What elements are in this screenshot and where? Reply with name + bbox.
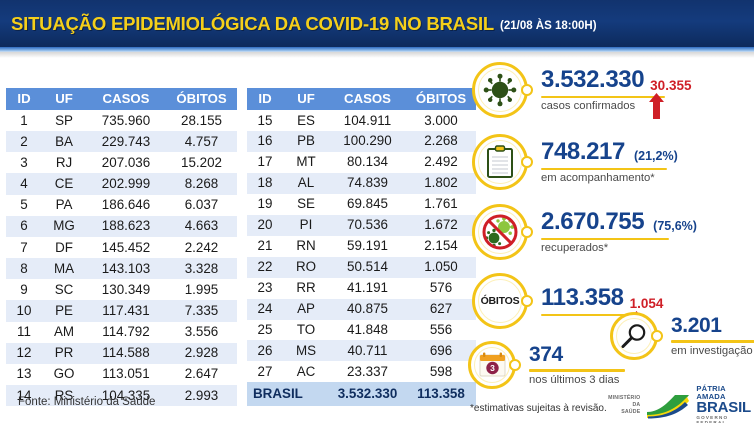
table-total-row: BRASIL3.532.330113.358	[247, 382, 476, 406]
table-row: 4CE202.9998.268	[6, 173, 237, 194]
table-row: 19SE69.8451.761	[247, 194, 476, 215]
state-uf: AP	[283, 299, 329, 320]
table-row: 11AM114.7923.556	[6, 322, 237, 343]
confirmed-cases-value: 3.532.330	[541, 68, 644, 94]
state-uf: PI	[283, 215, 329, 236]
state-id: 4	[6, 173, 42, 194]
state-casos: 23.337	[329, 361, 406, 382]
recovered-value: 2.670.755	[541, 210, 644, 236]
state-obitos: 4.757	[166, 131, 237, 152]
state-casos: 145.452	[86, 237, 166, 258]
state-id: 7	[6, 237, 42, 258]
state-uf: AC	[283, 361, 329, 382]
statistics-panel: 3.532.330 30.355 casos confirmados	[470, 58, 754, 378]
state-id: 18	[247, 173, 283, 194]
state-id: 13	[6, 364, 42, 385]
header-timestamp: (21/08 ÀS 18:00H)	[500, 20, 597, 32]
state-obitos: 2.993	[166, 385, 237, 406]
table-row: 21RN59.1912.154	[247, 236, 476, 257]
state-uf: PR	[42, 343, 86, 364]
ministry-label: MINISTÉRIO DA SAÚDE	[603, 395, 640, 416]
deaths-delta-value: 1.054	[630, 296, 664, 312]
state-obitos: 1.672	[406, 215, 476, 236]
table-row: 16PB100.2902.268	[247, 131, 476, 152]
state-casos: 70.536	[329, 215, 406, 236]
column-header-obitos: ÓBITOS	[166, 88, 237, 110]
monitoring-label: em acompanhamento*	[541, 172, 678, 184]
infographic-page: SITUAÇÃO EPIDEMIOLÓGICA DA COVID-19 NO B…	[0, 0, 754, 423]
stat-rule	[541, 96, 665, 99]
state-casos: 229.743	[86, 131, 166, 152]
page-title: SITUAÇÃO EPIDEMIOLÓGICA DA COVID-19 NO B…	[11, 13, 494, 35]
obitos-text-icon: ÓBITOS	[472, 273, 528, 329]
virus-icon	[472, 62, 528, 118]
table-row: 5PA186.6466.037	[6, 195, 237, 216]
stat-rule	[671, 340, 754, 343]
monitoring-value: 748.217	[541, 140, 625, 166]
state-obitos: 2.268	[406, 131, 476, 152]
state-uf: CE	[42, 173, 86, 194]
table-row: 7DF145.4522.242	[6, 237, 237, 258]
state-obitos: 3.556	[166, 322, 237, 343]
state-casos: 186.646	[86, 195, 166, 216]
stat-investigation-body: 3.201 em investigação	[671, 315, 754, 357]
state-casos: 69.845	[329, 194, 406, 215]
table-row: 18AL74.8391.802	[247, 173, 476, 194]
table-row: 8MA143.1033.328	[6, 258, 237, 279]
table-row: 23RR41.191576	[247, 278, 476, 299]
state-obitos: 556	[406, 320, 476, 341]
state-casos: 41.191	[329, 278, 406, 299]
source-note: Fonte: Ministério da Saúde	[18, 396, 155, 408]
state-uf: RR	[283, 278, 329, 299]
state-casos: 40.711	[329, 340, 406, 361]
stat-last-3-days: 3 374 nos últimos 3 dias	[468, 341, 625, 389]
state-obitos: 1.802	[406, 173, 476, 194]
state-id: 5	[6, 195, 42, 216]
table-row: 24AP40.875627	[247, 299, 476, 320]
table-row: 20PI70.5361.672	[247, 215, 476, 236]
state-id: 21	[247, 236, 283, 257]
investigation-label: em investigação	[671, 345, 754, 357]
state-id: 1	[6, 110, 42, 131]
table-row: 3RJ207.03615.202	[6, 152, 237, 173]
government-wordmark: PÁTRIA AMADA BRASIL GOVERNO FEDERAL	[696, 385, 754, 423]
column-header-obitos: ÓBITOS	[406, 88, 476, 110]
state-obitos: 1.761	[406, 194, 476, 215]
state-casos: 74.839	[329, 173, 406, 194]
state-id: 11	[6, 322, 42, 343]
state-obitos: 696	[406, 340, 476, 361]
state-uf: TO	[283, 320, 329, 341]
state-casos: 188.623	[86, 216, 166, 237]
state-uf: RO	[283, 257, 329, 278]
total-casos: 3.532.330	[329, 382, 406, 406]
recovered-label: recuperados*	[541, 242, 697, 254]
state-casos: 100.290	[329, 131, 406, 152]
state-obitos: 576	[406, 278, 476, 299]
table-row: 1SP735.96028.155	[6, 110, 237, 131]
state-obitos: 3.000	[406, 110, 476, 131]
state-uf: GO	[42, 364, 86, 385]
column-header-uf: UF	[42, 88, 86, 110]
brazil-flag-glyph	[645, 391, 691, 419]
table-row: 13GO113.0512.647	[6, 364, 237, 385]
state-id: 23	[247, 278, 283, 299]
stat-rule	[541, 238, 669, 241]
last-3-days-value: 374	[529, 344, 563, 367]
state-id: 10	[6, 300, 42, 321]
state-obitos: 8.268	[166, 173, 237, 194]
table-row: 12PR114.5882.928	[6, 343, 237, 364]
state-obitos: 7.335	[166, 300, 237, 321]
column-header-uf: UF	[283, 88, 329, 110]
state-uf: PA	[42, 195, 86, 216]
state-obitos: 2.492	[406, 152, 476, 173]
table-body-right: 15ES104.9113.00016PB100.2902.26817MT80.1…	[247, 110, 476, 406]
state-casos: 117.431	[86, 300, 166, 321]
state-casos: 130.349	[86, 279, 166, 300]
table-row: 22RO50.5141.050	[247, 257, 476, 278]
state-uf: PB	[283, 131, 329, 152]
stat-confirmed-body: 3.532.330 30.355 casos confirmados	[541, 68, 691, 113]
investigation-value: 3.201	[671, 315, 722, 338]
state-id: 20	[247, 215, 283, 236]
state-casos: 113.051	[86, 364, 166, 385]
state-casos: 114.792	[86, 322, 166, 343]
state-obitos: 2.928	[166, 343, 237, 364]
state-uf: RN	[283, 236, 329, 257]
no-virus-icon	[472, 204, 528, 260]
state-casos: 207.036	[86, 152, 166, 173]
state-id: 15	[247, 110, 283, 131]
state-id: 27	[247, 361, 283, 382]
state-obitos: 598	[406, 361, 476, 382]
confirmed-cases-delta: 30.355	[649, 78, 691, 94]
states-table-left: ID UF CASOS ÓBITOS 1SP735.96028.1552BA22…	[6, 88, 237, 406]
brazil-flag-icon	[645, 391, 691, 419]
state-id: 25	[247, 320, 283, 341]
state-casos: 114.588	[86, 343, 166, 364]
state-id: 9	[6, 279, 42, 300]
state-obitos: 4.663	[166, 216, 237, 237]
footnote: *estimativas sujeitas à revisão.	[470, 403, 607, 414]
state-uf: SC	[42, 279, 86, 300]
state-uf: BA	[42, 131, 86, 152]
stat-rule	[541, 168, 667, 171]
total-obitos: 113.358	[406, 382, 476, 406]
state-obitos: 6.037	[166, 195, 237, 216]
table-body-left: 1SP735.96028.1552BA229.7434.7573RJ207.03…	[6, 110, 237, 406]
table-header-row: ID UF CASOS ÓBITOS	[6, 88, 237, 110]
state-uf: SE	[283, 194, 329, 215]
state-id: 8	[6, 258, 42, 279]
column-header-casos: CASOS	[86, 88, 166, 110]
stat-monitoring-body: 748.217 (21,2%) em acompanhamento*	[541, 140, 678, 185]
confirmed-cases-delta-value: 30.355	[650, 78, 691, 94]
recovered-percent: (75,6%)	[653, 219, 697, 236]
table-header-row: ID UF CASOS ÓBITOS	[247, 88, 476, 110]
table-row: 27AC23.337598	[247, 361, 476, 382]
government-logo: MINISTÉRIO DA SAÚDE PÁTRIA AMADA BRASIL …	[603, 385, 754, 423]
state-id: 12	[6, 343, 42, 364]
table-row: 15ES104.9113.000	[247, 110, 476, 131]
state-obitos: 2.154	[406, 236, 476, 257]
ministry-label-line1: MINISTÉRIO DA	[603, 395, 640, 409]
calendar-icon: 3	[468, 341, 516, 389]
confirmed-cases-label: casos confirmados	[541, 100, 691, 112]
state-casos: 59.191	[329, 236, 406, 257]
state-uf: PE	[42, 300, 86, 321]
ministry-label-line2: SAÚDE	[603, 409, 640, 416]
last-3-days-label: nos últimos 3 dias	[529, 374, 625, 386]
state-uf: AL	[283, 173, 329, 194]
monitoring-percent: (21,2%)	[634, 149, 678, 166]
patria-amada-label: PÁTRIA AMADA	[696, 385, 754, 400]
state-uf: RJ	[42, 152, 86, 173]
state-id: 6	[6, 216, 42, 237]
table-row: 17MT80.1342.492	[247, 152, 476, 173]
column-header-id: ID	[247, 88, 283, 110]
table-row: 25TO41.848556	[247, 320, 476, 341]
state-uf: DF	[42, 237, 86, 258]
stat-monitoring: 748.217 (21,2%) em acompanhamento*	[472, 134, 678, 190]
table-row: 26MS40.711696	[247, 340, 476, 361]
table-row: 10PE117.4317.335	[6, 300, 237, 321]
state-uf: MS	[283, 340, 329, 361]
table-row: 2BA229.7434.757	[6, 131, 237, 152]
state-id: 26	[247, 340, 283, 361]
deaths-delta: 1.054	[629, 296, 664, 312]
state-obitos: 1.050	[406, 257, 476, 278]
state-casos: 202.999	[86, 173, 166, 194]
stat-investigation: 3.201 em investigação	[610, 312, 754, 360]
state-obitos: 28.155	[166, 110, 237, 131]
state-id: 17	[247, 152, 283, 173]
column-header-casos: CASOS	[329, 88, 406, 110]
state-casos: 735.960	[86, 110, 166, 131]
state-obitos: 3.328	[166, 258, 237, 279]
state-uf: ES	[283, 110, 329, 131]
stat-rule	[529, 369, 625, 372]
brasil-label: BRASIL	[696, 400, 754, 416]
deaths-value: 113.358	[541, 286, 624, 312]
state-casos: 41.848	[329, 320, 406, 341]
state-uf: MT	[283, 152, 329, 173]
column-header-id: ID	[6, 88, 42, 110]
state-casos: 50.514	[329, 257, 406, 278]
state-casos: 80.134	[329, 152, 406, 173]
state-id: 19	[247, 194, 283, 215]
states-table-right: ID UF CASOS ÓBITOS 15ES104.9113.00016PB1…	[247, 88, 476, 406]
state-obitos: 1.995	[166, 279, 237, 300]
state-uf: MA	[42, 258, 86, 279]
state-casos: 104.911	[329, 110, 406, 131]
state-obitos: 627	[406, 299, 476, 320]
stat-recovered: 2.670.755 (75,6%) recuperados*	[472, 204, 697, 260]
total-label: BRASIL	[247, 382, 329, 406]
data-tables: ID UF CASOS ÓBITOS 1SP735.96028.1552BA22…	[6, 88, 476, 406]
state-casos: 40.875	[329, 299, 406, 320]
table-row: 6MG188.6234.663	[6, 216, 237, 237]
magnifier-icon	[610, 312, 658, 360]
state-id: 22	[247, 257, 283, 278]
state-uf: AM	[42, 322, 86, 343]
state-id: 24	[247, 299, 283, 320]
state-id: 16	[247, 131, 283, 152]
clipboard-icon	[472, 134, 528, 190]
state-obitos: 2.242	[166, 237, 237, 258]
header-band: SITUAÇÃO EPIDEMIOLÓGICA DA COVID-19 NO B…	[0, 0, 754, 47]
state-id: 2	[6, 131, 42, 152]
stat-confirmed-cases: 3.532.330 30.355 casos confirmados	[472, 62, 691, 118]
state-obitos: 2.647	[166, 364, 237, 385]
state-uf: MG	[42, 216, 86, 237]
stat-recovered-body: 2.670.755 (75,6%) recuperados*	[541, 210, 697, 255]
governo-federal-label: GOVERNO FEDERAL	[696, 416, 754, 423]
state-obitos: 15.202	[166, 152, 237, 173]
state-casos: 143.103	[86, 258, 166, 279]
state-id: 3	[6, 152, 42, 173]
table-row: 9SC130.3491.995	[6, 279, 237, 300]
state-uf: SP	[42, 110, 86, 131]
